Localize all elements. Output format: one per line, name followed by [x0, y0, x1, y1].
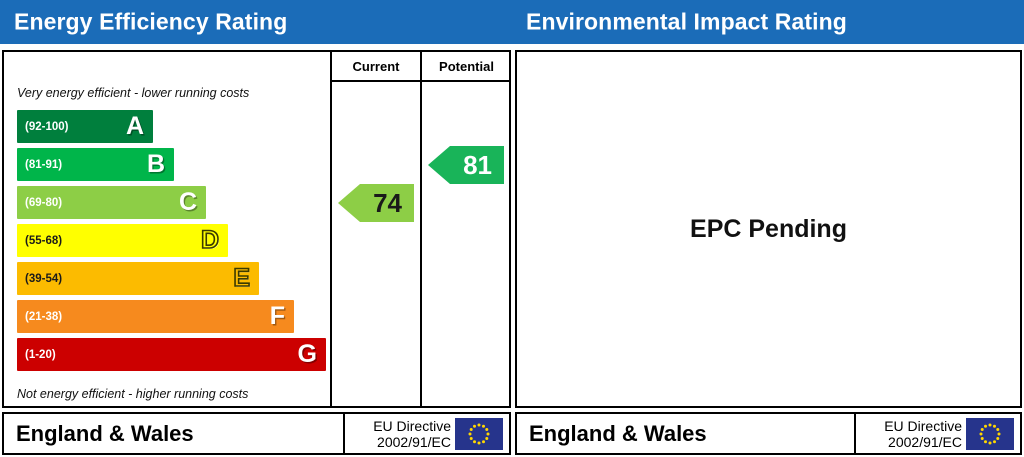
eu-flag-icon-left — [455, 418, 503, 450]
rating-band-range-g: (1-20) — [25, 349, 56, 361]
eu-stars-icon — [455, 418, 503, 450]
column-header-current: Current — [332, 56, 420, 78]
energy-rating-chart: Very energy efficient - lower running co… — [4, 82, 330, 408]
panel-divider — [511, 44, 515, 457]
current-rating-arrow: 74 — [338, 184, 414, 222]
rating-band-range-f: (21-38) — [25, 311, 62, 323]
footer-separator-left — [343, 414, 345, 453]
rating-band-letter-c: C — [179, 190, 197, 215]
eu-directive-line1-left: EU Directive — [373, 418, 451, 434]
rating-band-range-a: (92-100) — [25, 121, 68, 133]
energy-efficiency-panel: Current Potential Very energy efficient … — [2, 50, 511, 408]
environmental-impact-header-bar: Environmental Impact Rating — [512, 0, 1024, 44]
rating-band-f: (21-38)F — [17, 300, 294, 333]
eu-directive-line1-right: EU Directive — [884, 418, 962, 434]
environmental-impact-panel: EPC Pending — [515, 50, 1022, 408]
rating-band-g: (1-20)G — [17, 338, 326, 371]
footer-left: England & Wales EU Directive 2002/91/EC — [2, 412, 511, 455]
rating-band-range-b: (81-91) — [25, 159, 62, 171]
rating-band-range-d: (55-68) — [25, 235, 62, 247]
footer-region-label-left: England & Wales — [16, 421, 194, 447]
rating-band-letter-g: G — [298, 342, 317, 367]
eu-directive-text-left: EU Directive 2002/91/EC — [373, 418, 451, 450]
rating-band-a: (92-100)A — [17, 110, 153, 143]
rating-band-letter-a: A — [126, 114, 144, 139]
rating-band-d: (55-68)D — [17, 224, 228, 257]
rating-band-letter-f: F — [270, 304, 285, 329]
column-separator-current — [330, 52, 332, 406]
rating-band-c: (69-80)C — [17, 186, 206, 219]
chart-caption-top: Very energy efficient - lower running co… — [17, 86, 249, 100]
eu-directive-text-right: EU Directive 2002/91/EC — [884, 418, 962, 450]
rating-band-range-e: (39-54) — [25, 273, 62, 285]
energy-efficiency-title: Energy Efficiency Rating — [14, 9, 287, 36]
rating-band-e: (39-54)E — [17, 262, 259, 295]
column-separator-potential — [420, 52, 422, 406]
footer-region-label-right: England & Wales — [529, 421, 707, 447]
rating-band-letter-d: D — [201, 228, 219, 253]
chart-caption-bottom: Not energy efficient - higher running co… — [17, 387, 248, 401]
footer-right: England & Wales EU Directive 2002/91/EC — [515, 412, 1022, 455]
epc-pending-message: EPC Pending — [517, 52, 1020, 406]
environmental-impact-title: Environmental Impact Rating — [526, 9, 847, 36]
eu-directive-line2-right: 2002/91/EC — [884, 434, 962, 450]
potential-rating-arrow: 81 — [428, 146, 504, 184]
eu-directive-line2-left: 2002/91/EC — [373, 434, 451, 450]
rating-band-b: (81-91)B — [17, 148, 174, 181]
epc-graphic: Energy Efficiency Rating Environmental I… — [0, 0, 1024, 457]
rating-band-range-c: (69-80) — [25, 197, 62, 209]
energy-efficiency-header-bar: Energy Efficiency Rating — [0, 0, 512, 44]
column-header-potential: Potential — [422, 56, 511, 78]
eu-stars-icon — [966, 418, 1014, 450]
rating-band-letter-b: B — [147, 152, 165, 177]
column-header-rule — [330, 80, 511, 82]
footer-separator-right — [854, 414, 856, 453]
rating-band-letter-e: E — [233, 266, 250, 291]
eu-flag-icon-right — [966, 418, 1014, 450]
